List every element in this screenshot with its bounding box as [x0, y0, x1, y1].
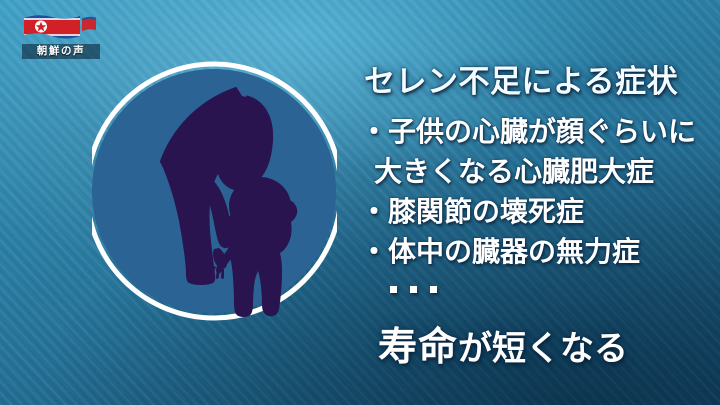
ellipsis-dot — [390, 286, 397, 293]
list-item-continuation: 大きくなる心臓肥大症 — [360, 152, 720, 192]
list-item-text: 体中の臓器の無力症 — [388, 235, 640, 268]
channel-name-label: 朝鮮の声 — [22, 44, 100, 59]
list-item: ・子供の心臓が顔ぐらいに — [360, 112, 720, 152]
list-item: ・体中の臓器の無力症 — [360, 232, 720, 272]
slide-text-column: セレン不足による症状 ・子供の心臓が顔ぐらいに 大きくなる心臓肥大症 ・膝関節の… — [356, 0, 720, 405]
list-item-text: 大きくなる心臓肥大症 — [374, 155, 654, 188]
conclusion-text: 寿命が短くなる — [378, 316, 628, 372]
bullet-marker: ・ — [360, 115, 388, 148]
broadcast-slide: 朝鮮の声 — [0, 0, 720, 405]
channel-logo: 朝鮮の声 — [18, 14, 104, 62]
bullet-marker: ・ — [360, 195, 388, 228]
north-korea-flag-icon — [18, 14, 104, 48]
bullet-marker: ・ — [360, 235, 388, 268]
list-item: ・膝関節の壊死症 — [360, 192, 720, 232]
list-item-text: 膝関節の壊死症 — [388, 195, 584, 228]
ellipsis-marker — [390, 286, 437, 293]
symptom-list: ・子供の心臓が顔ぐらいに 大きくなる心臓肥大症 ・膝関節の壊死症 ・体中の臓器の… — [360, 112, 720, 272]
parent-and-child-silhouette-icon — [92, 59, 337, 323]
conclusion-tail: が短くなる — [458, 329, 628, 369]
page-title: セレン不足による症状 — [364, 56, 678, 101]
ellipsis-dot — [410, 286, 417, 293]
list-item-text: 子供の心臓が顔ぐらいに — [388, 115, 696, 148]
conclusion-lead: 寿命 — [378, 325, 458, 370]
ellipsis-dot — [430, 286, 437, 293]
